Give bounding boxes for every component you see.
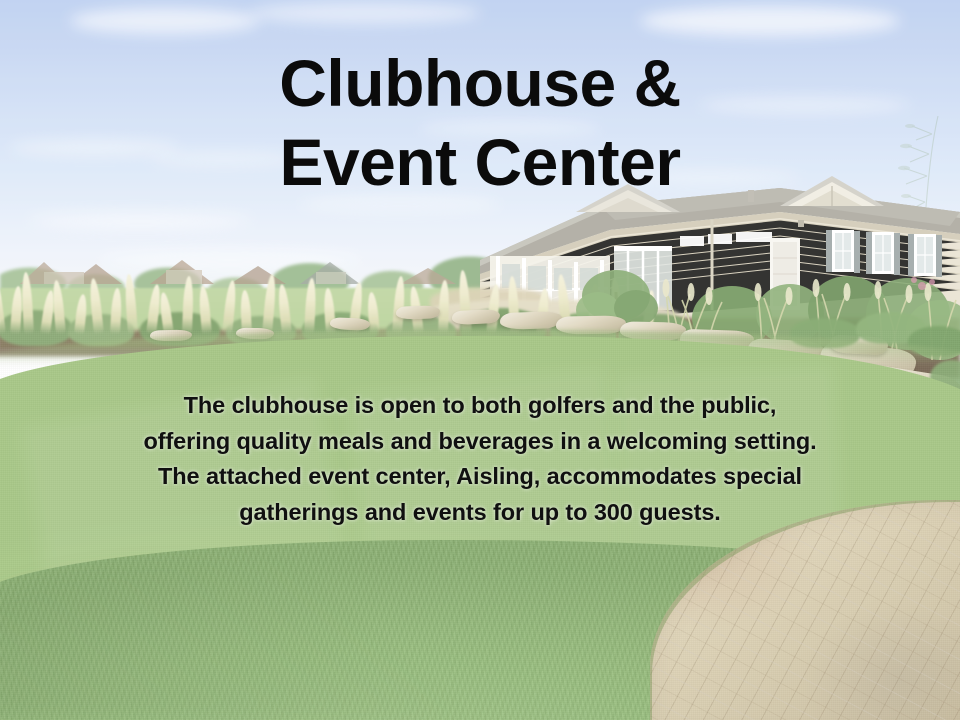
description-paragraph: The clubhouse is open to both golfers an… bbox=[140, 388, 820, 531]
slide-clubhouse-event-center: Clubhouse & Event Center The clubhouse i… bbox=[0, 0, 960, 720]
text-overlay: Clubhouse & Event Center The clubhouse i… bbox=[0, 0, 960, 720]
page-title: Clubhouse & Event Center bbox=[0, 44, 960, 202]
